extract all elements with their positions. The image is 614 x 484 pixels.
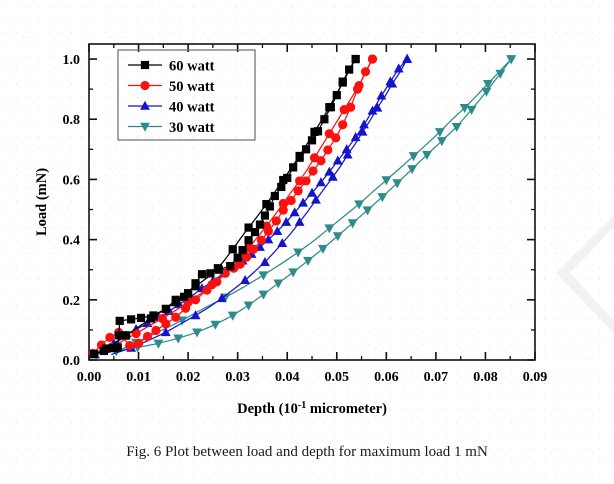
data-point bbox=[239, 246, 247, 254]
legend-label: 60 watt bbox=[169, 59, 215, 75]
data-point bbox=[308, 166, 317, 175]
data-point bbox=[127, 315, 135, 323]
x-tick-label: 0.06 bbox=[374, 370, 399, 385]
legend-label: 40 watt bbox=[169, 100, 215, 116]
data-point bbox=[234, 254, 242, 262]
data-point bbox=[214, 264, 222, 272]
data-point bbox=[352, 55, 360, 63]
data-point bbox=[273, 279, 283, 288]
data-point bbox=[333, 91, 341, 99]
data-point bbox=[308, 136, 316, 144]
data-point bbox=[381, 176, 391, 185]
legend: 60 watt50 watt40 watt30 watt bbox=[118, 50, 255, 140]
data-point bbox=[323, 145, 332, 154]
x-axis-title: Depth (10-1 micrometer) bbox=[237, 400, 387, 417]
data-point bbox=[293, 248, 303, 257]
data-point bbox=[279, 199, 288, 208]
data-point bbox=[259, 271, 269, 280]
data-point bbox=[206, 269, 214, 277]
data-point bbox=[198, 270, 206, 278]
curve-unloading bbox=[96, 59, 355, 354]
series-60-watt bbox=[90, 55, 360, 358]
data-point bbox=[244, 301, 254, 310]
data-point bbox=[368, 54, 377, 63]
x-tick-label: 0.02 bbox=[176, 370, 201, 385]
data-point bbox=[333, 232, 343, 241]
data-point bbox=[115, 331, 123, 339]
data-point bbox=[158, 314, 167, 323]
data-point bbox=[134, 339, 143, 348]
y-tick-label: 0.8 bbox=[63, 113, 81, 128]
data-point bbox=[310, 128, 318, 136]
data-point bbox=[339, 78, 347, 86]
data-point bbox=[207, 280, 216, 289]
data-point bbox=[261, 211, 269, 219]
data-point bbox=[137, 314, 145, 322]
data-point bbox=[354, 81, 363, 90]
data-point bbox=[272, 216, 281, 225]
data-point bbox=[287, 196, 296, 205]
data-point bbox=[226, 262, 234, 270]
x-tick-label: 0.05 bbox=[325, 370, 350, 385]
data-point bbox=[122, 331, 130, 339]
data-point bbox=[172, 298, 180, 306]
data-point bbox=[151, 326, 160, 335]
legend-label: 30 watt bbox=[169, 120, 215, 136]
data-point bbox=[90, 350, 98, 358]
x-tick-label: 0.04 bbox=[275, 370, 300, 385]
x-tick-label: 0.00 bbox=[77, 370, 102, 385]
load-depth-chart: 0.000.010.020.030.040.050.060.070.080.09… bbox=[0, 0, 614, 484]
data-point bbox=[102, 344, 110, 352]
y-tick-label: 0.2 bbox=[63, 294, 81, 309]
data-point bbox=[228, 312, 238, 321]
data-point bbox=[244, 236, 252, 244]
data-point bbox=[325, 103, 333, 111]
x-tick-label: 0.01 bbox=[126, 370, 151, 385]
data-point bbox=[318, 245, 328, 254]
data-point bbox=[116, 317, 124, 325]
y-tick-label: 1.0 bbox=[63, 53, 81, 68]
data-point bbox=[340, 105, 349, 114]
data-point bbox=[210, 321, 220, 330]
data-point bbox=[376, 91, 386, 100]
data-point bbox=[363, 206, 373, 215]
data-point bbox=[294, 186, 303, 195]
data-point bbox=[244, 223, 252, 231]
data-point bbox=[345, 65, 353, 73]
data-point bbox=[257, 236, 266, 245]
data-point bbox=[288, 268, 298, 277]
x-tick-label: 0.07 bbox=[424, 370, 449, 385]
data-point bbox=[310, 153, 319, 162]
curve-unloading bbox=[111, 59, 407, 355]
data-point bbox=[143, 332, 152, 341]
legend-marker bbox=[140, 101, 150, 110]
data-point bbox=[191, 282, 199, 290]
data-point bbox=[259, 291, 269, 300]
data-point bbox=[324, 224, 334, 233]
data-point bbox=[338, 120, 347, 129]
data-point bbox=[296, 152, 304, 160]
data-point bbox=[262, 200, 270, 208]
data-point bbox=[361, 67, 370, 76]
data-point bbox=[295, 176, 304, 185]
data-point bbox=[114, 343, 122, 351]
legend-label: 50 watt bbox=[169, 79, 215, 95]
data-point bbox=[289, 163, 297, 171]
data-point bbox=[271, 192, 279, 200]
x-tick-label: 0.09 bbox=[523, 370, 548, 385]
data-point bbox=[348, 219, 358, 228]
data-point bbox=[147, 314, 155, 322]
y-axis-title: Load (mN) bbox=[34, 168, 50, 236]
series-40-watt bbox=[90, 54, 412, 359]
y-tick-label: 0.4 bbox=[63, 234, 81, 249]
data-point bbox=[229, 245, 237, 253]
data-point bbox=[105, 333, 114, 342]
data-point bbox=[184, 289, 192, 297]
curve-loading bbox=[94, 59, 356, 354]
x-tick-label: 0.03 bbox=[225, 370, 250, 385]
data-point bbox=[171, 313, 180, 322]
y-tick-label: 0.0 bbox=[63, 354, 81, 369]
legend-marker bbox=[140, 123, 150, 132]
data-point bbox=[162, 305, 170, 313]
data-point bbox=[125, 341, 134, 350]
data-point bbox=[325, 129, 334, 138]
data-point bbox=[279, 176, 287, 184]
data-point bbox=[354, 200, 364, 209]
data-point bbox=[256, 220, 264, 228]
x-tick-label: 0.08 bbox=[473, 370, 498, 385]
legend-marker bbox=[140, 81, 149, 90]
data-point bbox=[402, 54, 412, 63]
legend-marker bbox=[141, 61, 149, 69]
y-tick-label: 0.6 bbox=[63, 173, 81, 188]
data-point bbox=[320, 115, 328, 123]
data-point bbox=[303, 257, 313, 266]
figure-caption: Fig. 6 Plot between load and depth for m… bbox=[0, 444, 614, 461]
